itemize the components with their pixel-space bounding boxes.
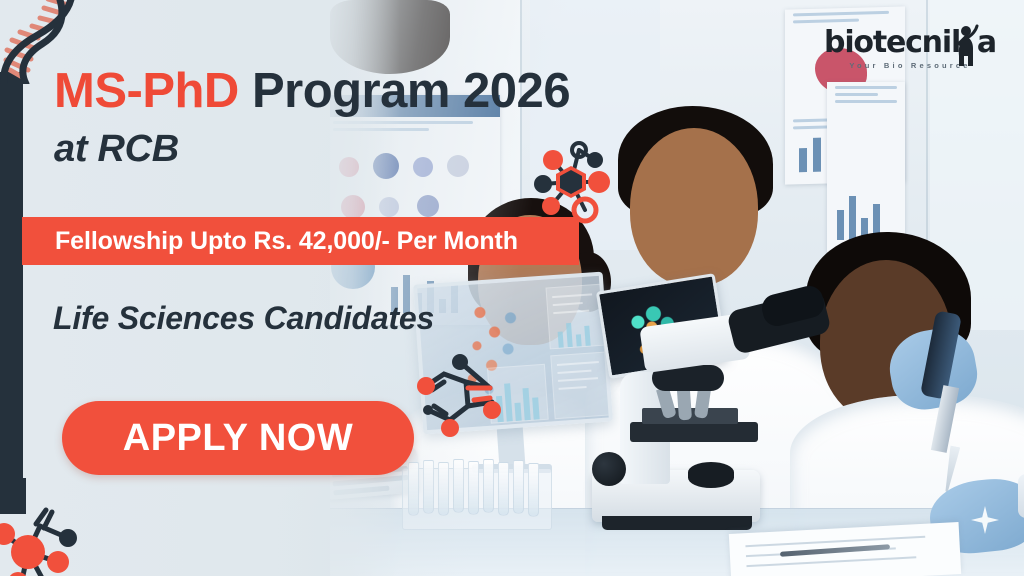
audience-text: Life Sciences Candidates (53, 300, 434, 337)
test-tube (528, 463, 539, 517)
poster-text-line (835, 100, 897, 103)
chemical-structure-icon (404, 344, 514, 444)
poster-bar (813, 138, 821, 172)
dashboard-panel (550, 352, 610, 420)
poster-text-line (835, 93, 878, 96)
test-tube (513, 460, 524, 514)
objective-lens (677, 390, 692, 421)
left-accent-bar (0, 72, 23, 506)
poster-bar (799, 148, 807, 172)
test-tube (408, 462, 419, 516)
microscope-stage (630, 422, 758, 442)
human-figure-icon (950, 24, 980, 68)
page-title: MS-PhD Program 2026 (54, 66, 614, 117)
poster-bar (837, 210, 844, 240)
poster-graphic (447, 155, 469, 177)
molecule-icon (0, 496, 124, 576)
poster-graphic (417, 195, 439, 217)
poster-text-line (835, 86, 897, 89)
fellowship-text: Fellowship Upto Rs. 42,000/- Per Month (55, 227, 518, 256)
test-tube (498, 462, 509, 516)
poster-text-line (793, 11, 889, 17)
test-tube (483, 459, 494, 513)
molecule-icon (523, 132, 619, 228)
face (630, 128, 758, 286)
test-tube (453, 459, 464, 513)
microscope-illuminator (688, 462, 734, 488)
focus-knob (592, 452, 626, 486)
brand-logo[interactable]: biotecnika Your Bio Resource (824, 28, 996, 80)
coat-cuff (1018, 474, 1024, 518)
headline-rest: Program 2026 (239, 64, 570, 118)
headline-highlight: MS-PhD (54, 64, 239, 118)
poster-graphic (413, 157, 433, 177)
promo-banner: MS-PhD Program 2026 at RCB Fellowship Up… (0, 0, 1024, 576)
test-tube (468, 461, 479, 515)
lab-poster (827, 82, 905, 252)
subheadline: at RCB (54, 128, 179, 171)
poster-text-line (793, 19, 859, 24)
poster-bar (849, 196, 856, 240)
apply-now-button[interactable]: APPLY NOW (62, 401, 414, 475)
test-tube (438, 462, 449, 516)
fellowship-band: Fellowship Upto Rs. 42,000/- Per Month (22, 217, 579, 265)
microscope-foot (602, 516, 752, 530)
test-tube (423, 460, 434, 514)
